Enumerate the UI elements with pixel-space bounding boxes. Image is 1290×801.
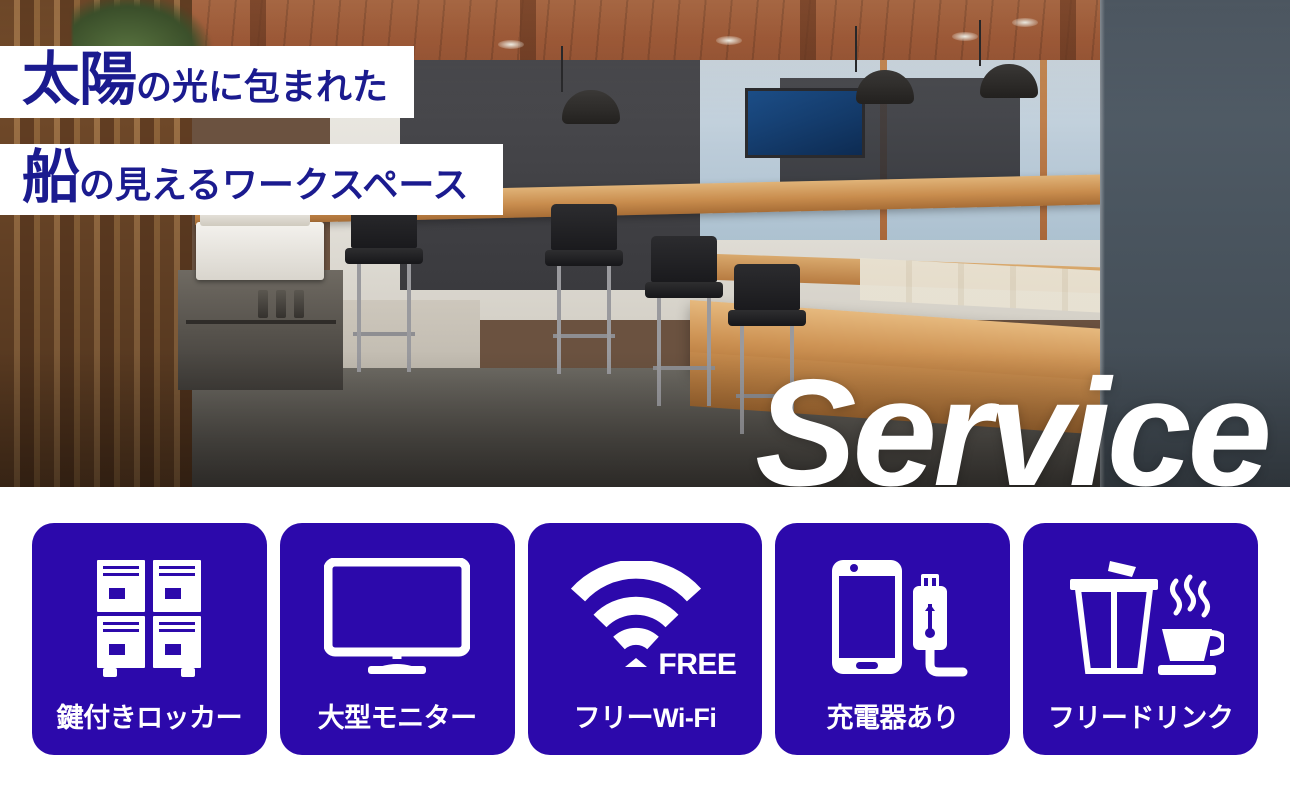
headline-rest-1: の光に包まれた [136, 69, 388, 105]
headline-emphasis-1: 太陽 [22, 52, 136, 108]
headline-line-1: 太陽 の光に包まれた [0, 46, 414, 118]
wifi-free-badge: FREE [658, 648, 736, 682]
section-wordmark: Service [755, 357, 1268, 487]
drink-cups-icon [1023, 537, 1258, 696]
service-card-locker[interactable]: 鍵付きロッカー [32, 523, 267, 755]
headline-rest-2: の見えるワークスペース [79, 167, 469, 203]
service-label-monitor: 大型モニター [318, 696, 477, 755]
service-label-drink: フリードリンク [1048, 696, 1234, 755]
service-card-wifi[interactable]: FREE フリーWi-Fi [528, 523, 763, 755]
service-label-wifi: フリーWi-Fi [574, 696, 717, 755]
service-card-list: 鍵付きロッカー 大型モニター [32, 523, 1258, 755]
service-card-drink[interactable]: フリードリンク [1023, 523, 1258, 755]
locker-icon [32, 537, 267, 696]
smartphone-usb-icon [775, 537, 1010, 696]
service-page: 太陽 の光に包まれた 船 の見えるワークスペース Service [0, 0, 1290, 801]
hero-banner: 太陽 の光に包まれた 船 の見えるワークスペース Service [0, 0, 1290, 487]
service-label-locker: 鍵付きロッカー [57, 696, 243, 755]
service-card-monitor[interactable]: 大型モニター [280, 523, 515, 755]
headline-emphasis-2: 船 [22, 150, 79, 206]
service-card-charger[interactable]: 充電器あり [775, 523, 1010, 755]
service-label-charger: 充電器あり [827, 696, 960, 755]
hero-headline: 太陽 の光に包まれた 船 の見えるワークスペース [0, 46, 503, 215]
headline-line-2: 船 の見えるワークスペース [0, 144, 503, 216]
monitor-icon [280, 537, 515, 696]
